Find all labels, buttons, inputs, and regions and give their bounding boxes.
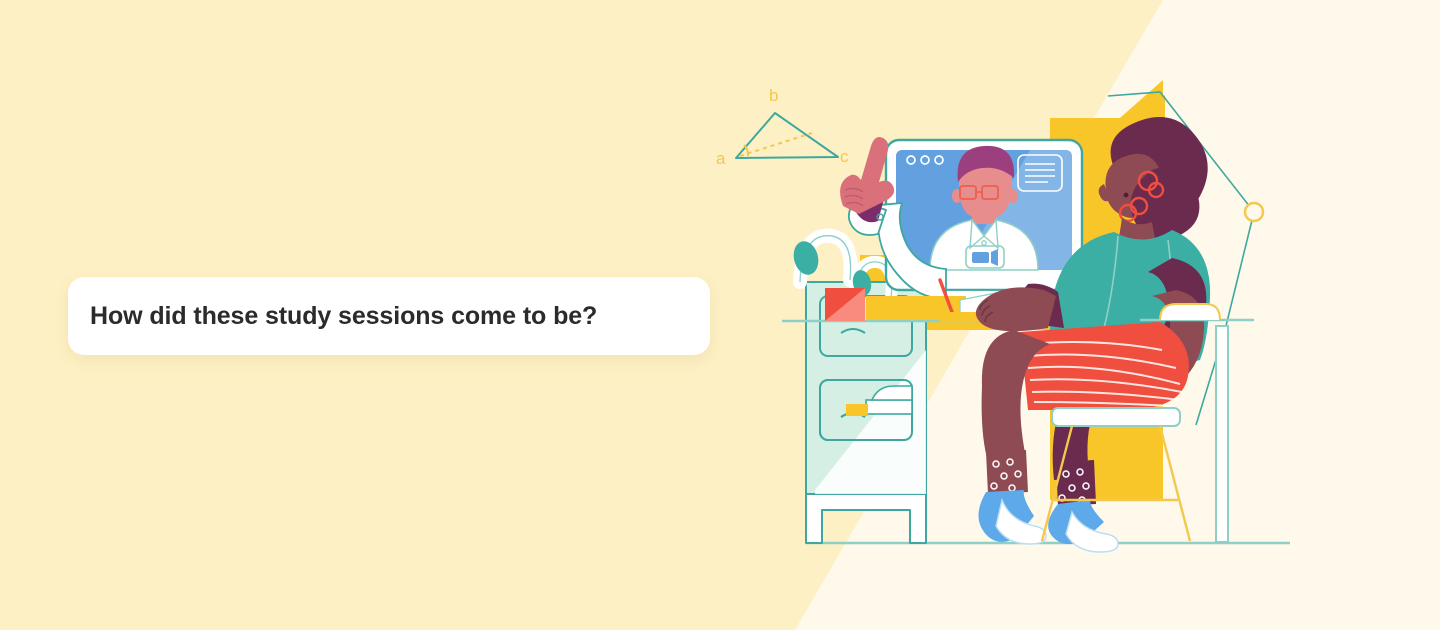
headline-card: How did these study sessions come to be? [68, 277, 710, 355]
banner-root: a b c [0, 0, 1440, 630]
stool-seat [1052, 408, 1180, 426]
geometry-triangle-diagram: a b c [716, 86, 849, 168]
right-desk-object [1160, 304, 1220, 320]
triangle-label-c: c [840, 147, 849, 166]
accent-node-circle [1245, 203, 1263, 221]
triangle-label-b: b [769, 86, 778, 105]
triangle-label-a: a [716, 149, 726, 168]
page-title: How did these study sessions come to be? [90, 302, 597, 331]
right-desk-leg [1216, 326, 1228, 542]
